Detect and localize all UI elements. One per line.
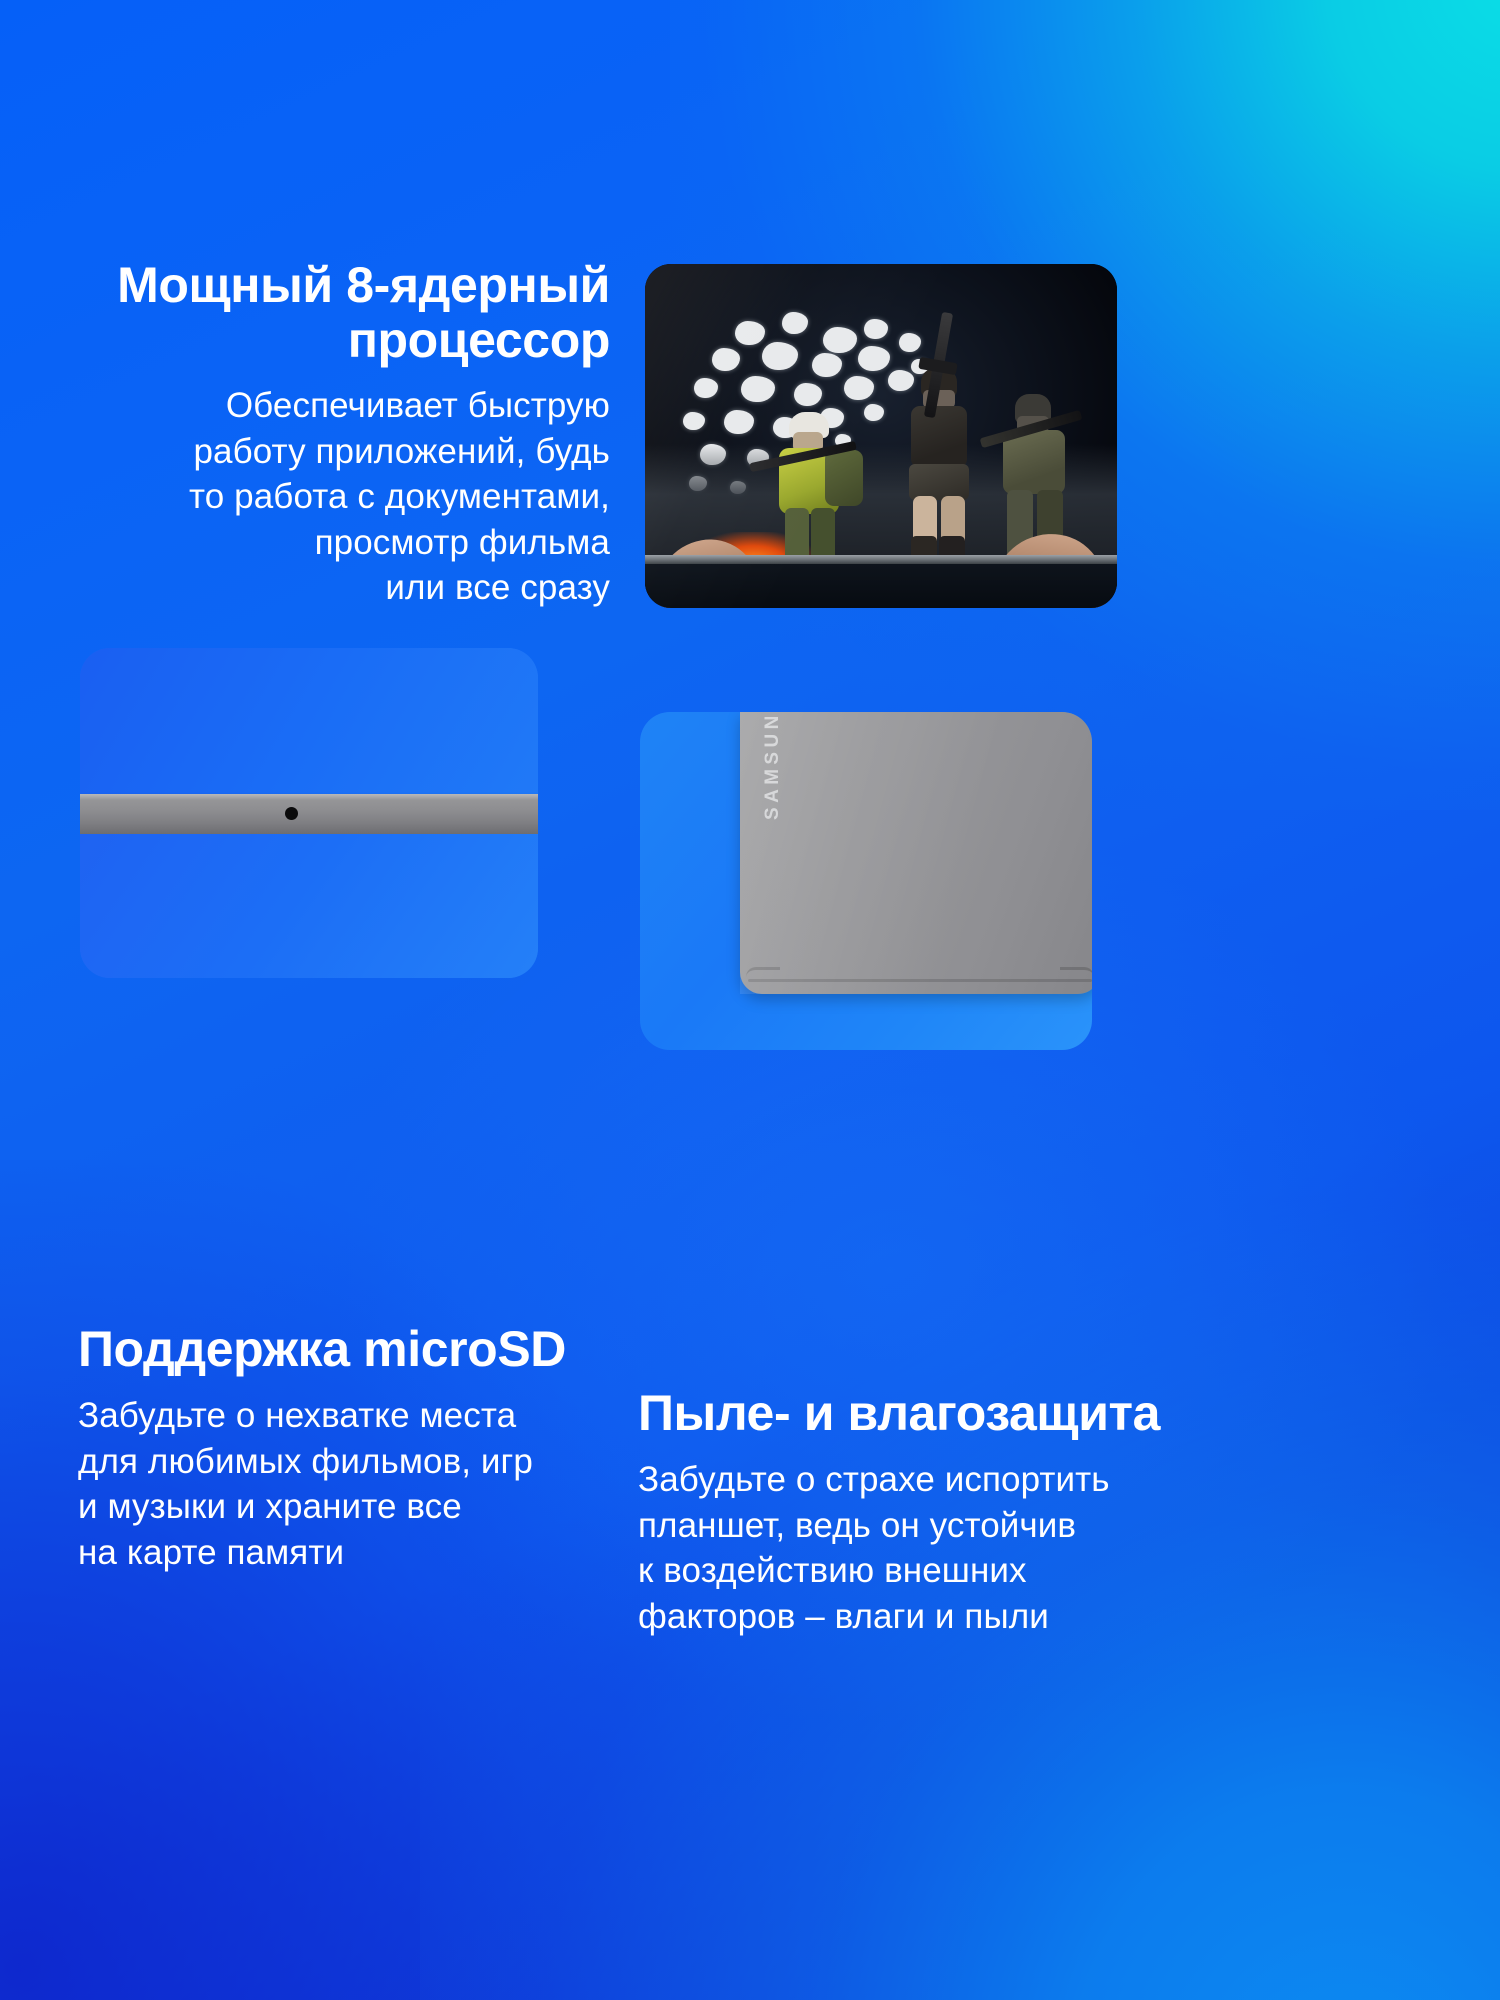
tablet-shell-shine [740,712,1092,994]
promo-page: Мощный 8-ядерный процессор Обеспечивает … [0,0,1500,2000]
sd-panel-lower [80,834,538,978]
game-character-center [881,368,1001,564]
tablet-gaming-screenshot [645,264,1117,608]
microsd-slot-closeup [80,648,538,978]
samsung-brand-logo: SAMSUNG [762,712,784,820]
sd-tray-pinhole [285,807,298,820]
seam-line [748,979,1092,982]
tablet-lower-frame [645,564,1117,608]
tablet-rear-shell: SAMSUNG [740,712,1092,994]
feature-title-microsd: Поддержка microSD [78,1322,698,1377]
feature-body-processor: Обеспечивает быструю работу приложений, … [90,383,610,611]
feature-body-microsd: Забудьте о нехватке места для любимых фи… [78,1393,698,1575]
feature-body-waterproof: Забудьте о страхе испортить планшет, вед… [638,1457,1338,1639]
sd-tray-highlight [80,794,538,800]
tablet-back-panel: SAMSUNG [640,712,1092,1050]
seam-cut-left [746,967,780,994]
tablet-antenna-seam [740,970,1092,994]
seam-cut-right [1060,967,1092,994]
tablet-screen-bezel [645,555,1117,564]
feature-title-processor: Мощный 8-ядерный процессор [90,258,610,368]
feature-title-waterproof: Пыле- и влагозащита [638,1386,1338,1441]
sd-panel-upper [80,648,538,794]
sd-card-tray-strip [80,794,538,834]
game-character-left [763,412,873,562]
